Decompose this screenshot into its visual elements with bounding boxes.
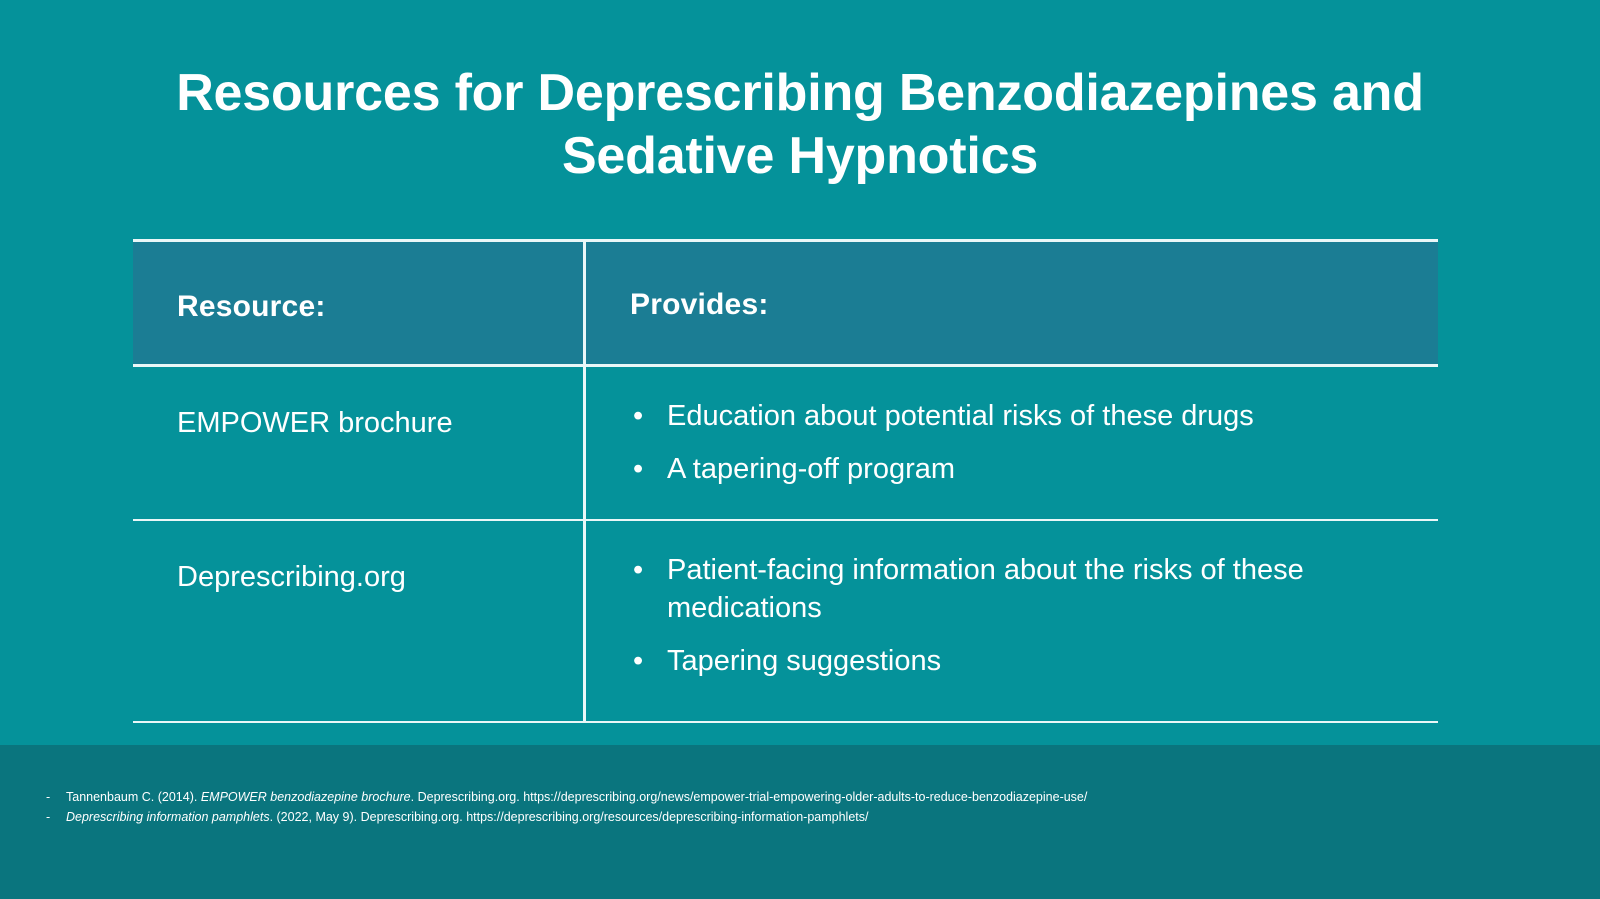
list-item: • A tapering-off program <box>630 450 1414 488</box>
bullet-icon: • <box>633 450 643 488</box>
reference-item-2: - Deprescribing information pamphlets. (… <box>46 808 1096 826</box>
list-item: • Patient-facing information about the r… <box>630 551 1414 628</box>
reference-2-italic: Deprescribing information pamphlets <box>66 810 270 824</box>
row-1-bullet-list: • Education about potential risks of the… <box>630 397 1414 489</box>
table-header-row: Resource: Provides: <box>133 242 1438 364</box>
row-1-bullet-2-text: A tapering-off program <box>667 453 955 485</box>
row-1-resource-label: EMPOWER brochure <box>177 405 565 441</box>
row-2-resource-label: Deprescribing.org <box>177 559 565 595</box>
header-cell-provides: Provides: <box>583 242 1438 364</box>
reference-2-text: Deprescribing information pamphlets. (20… <box>66 808 1096 826</box>
row-2-bullet-2-text: Tapering suggestions <box>667 645 941 677</box>
bullet-icon: • <box>633 551 643 589</box>
bullet-icon: • <box>633 642 643 680</box>
reference-dash: - <box>46 808 66 826</box>
reference-1-text: Tannenbaum C. (2014). EMPOWER benzodiaze… <box>66 788 1096 806</box>
reference-1-pre: Tannenbaum C. (2014). <box>66 790 201 804</box>
reference-item-1: - Tannenbaum C. (2014). EMPOWER benzodia… <box>46 788 1096 806</box>
column-header-provides: Provides: <box>630 288 1438 322</box>
reference-2-post: . (2022, May 9). Deprescribing.org. http… <box>270 810 869 824</box>
reference-1-italic: EMPOWER benzodiazepine brochure <box>201 790 411 804</box>
row-2-resource-cell: Deprescribing.org <box>133 521 583 721</box>
row-2-provides-cell: • Patient-facing information about the r… <box>583 521 1438 721</box>
list-item: • Tapering suggestions <box>630 642 1414 680</box>
references-block: - Tannenbaum C. (2014). EMPOWER benzodia… <box>46 788 1096 828</box>
header-cell-resource: Resource: <box>133 242 583 364</box>
list-item: • Education about potential risks of the… <box>630 397 1414 435</box>
bullet-icon: • <box>633 397 643 435</box>
footer-band: - Tannenbaum C. (2014). EMPOWER benzodia… <box>0 745 1600 899</box>
reference-1-post: . Deprescribing.org. https://deprescribi… <box>411 790 1088 804</box>
page-title: Resources for Deprescribing Benzodiazepi… <box>0 62 1600 189</box>
row-2-bullet-1-text: Patient-facing information about the ris… <box>667 554 1304 624</box>
column-header-resource: Resource: <box>177 290 583 324</box>
table-row: Deprescribing.org • Patient-facing infor… <box>133 521 1438 721</box>
row-1-bullet-1-text: Education about potential risks of these… <box>667 400 1254 432</box>
table-bottom-rule <box>133 721 1438 723</box>
row-1-provides-cell: • Education about potential risks of the… <box>583 367 1438 519</box>
row-1-resource-cell: EMPOWER brochure <box>133 367 583 519</box>
resources-table: Resource: Provides: EMPOWER brochure • E… <box>133 239 1438 723</box>
row-2-bullet-list: • Patient-facing information about the r… <box>630 551 1414 681</box>
slide-root: Resources for Deprescribing Benzodiazepi… <box>0 0 1600 899</box>
table-row: EMPOWER brochure • Education about poten… <box>133 367 1438 519</box>
reference-dash: - <box>46 788 66 806</box>
